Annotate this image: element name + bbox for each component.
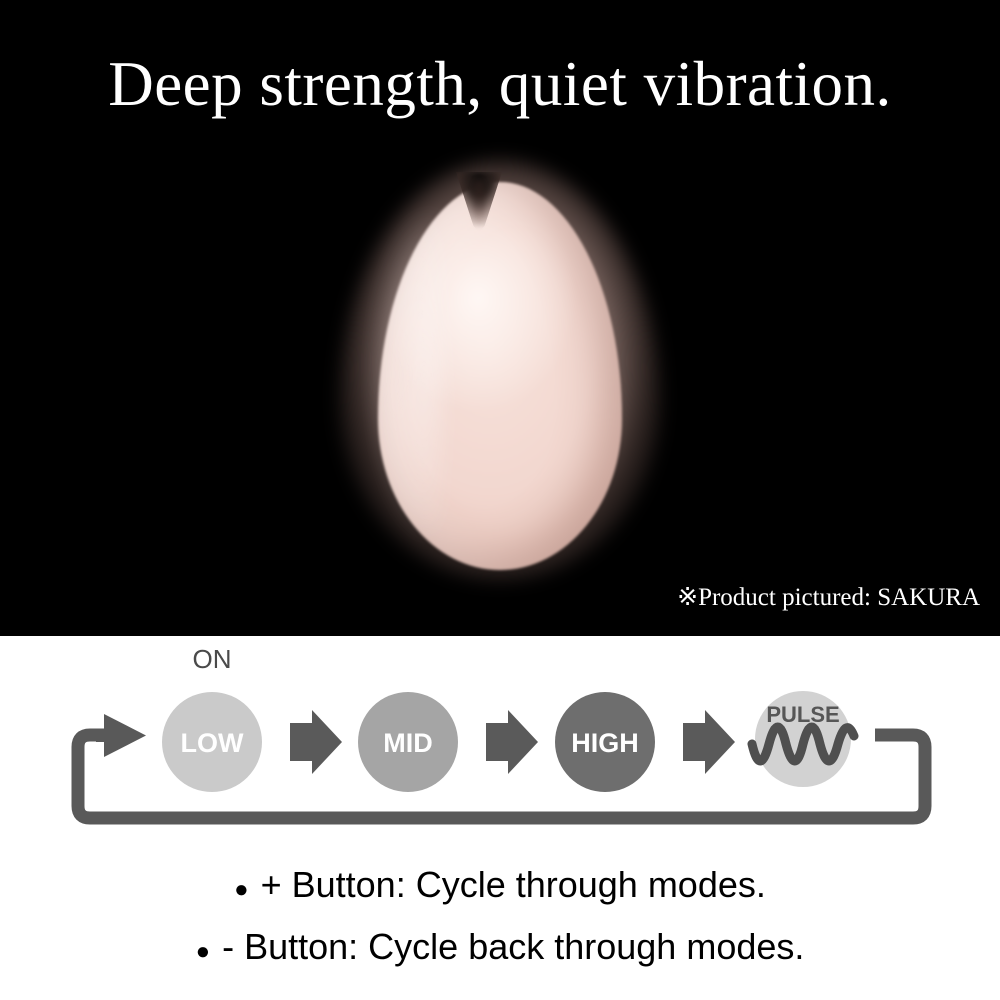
mode-high[interactable]: HIGH (555, 692, 655, 792)
mode-mid-label: MID (383, 728, 433, 758)
bullet-list: ● + Button: Cycle through modes. ● - But… (0, 854, 1000, 978)
product-highlight (371, 210, 441, 540)
product-feature-card: Deep strength, quiet vibration. ※Product… (0, 0, 1000, 1000)
product-notch-crease (473, 180, 485, 228)
list-item: ● + Button: Cycle through modes. (0, 854, 1000, 916)
mode-high-label: HIGH (571, 728, 639, 758)
mode-pulse[interactable]: PULSE (752, 691, 854, 787)
arrow-mid-to-high (486, 710, 538, 774)
page-title: Deep strength, quiet vibration. (0, 48, 1000, 120)
product-image (305, 150, 695, 590)
instructions-panel: ON LOW MID (0, 636, 1000, 1000)
list-item: ● - Button: Cycle back through modes. (0, 916, 1000, 978)
product-caption: ※Product pictured: SAKURA (677, 583, 980, 613)
mode-low[interactable]: LOW (162, 692, 262, 792)
hero-panel: Deep strength, quiet vibration. ※Product… (0, 0, 1000, 636)
on-label: ON (193, 644, 232, 674)
bullet-text: + Button: Cycle through modes. (261, 854, 766, 916)
mode-mid[interactable]: MID (358, 692, 458, 792)
bullet-text: - Button: Cycle back through modes. (222, 916, 804, 978)
bullet-marker: ● (234, 872, 249, 908)
bullet-marker: ● (196, 934, 211, 970)
mode-low-label: LOW (181, 728, 244, 758)
mode-cycle-diagram: ON LOW MID (0, 636, 1000, 851)
arrow-low-to-mid (290, 710, 342, 774)
arrow-high-to-pulse (683, 710, 735, 774)
